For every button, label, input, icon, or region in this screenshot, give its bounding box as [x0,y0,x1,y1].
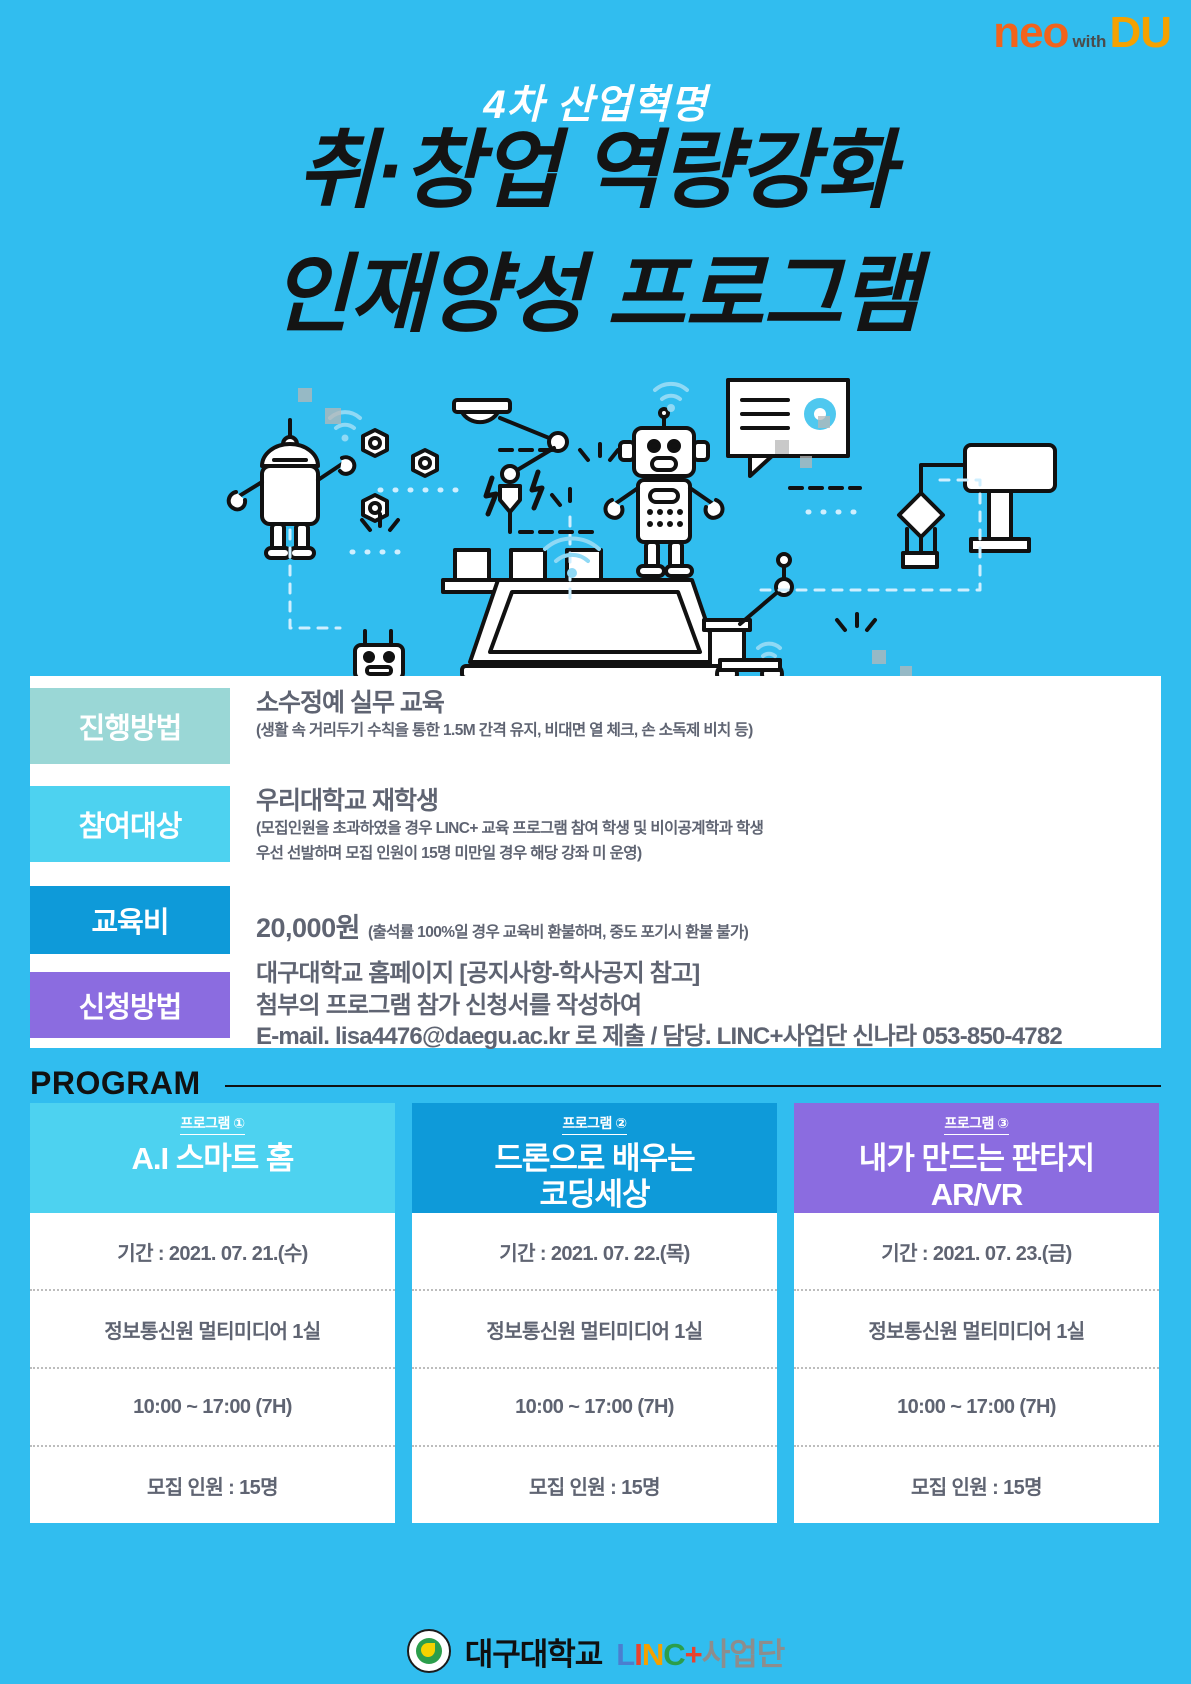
robotics-illustration [0,360,1191,680]
program-card-2-place: 정보통신원 멀티미디어 1실 [412,1289,777,1367]
fee-amount: 20,000원 [256,906,360,945]
linc-plus-sign: + [685,1637,702,1672]
program-card-3[interactable]: 프로그램 ③ 내가 만드는 판타지 AR/VR 기간 : 2021. 07. 2… [794,1103,1159,1523]
footer-logos: 대구대학교 LINC+사업단 [0,1618,1191,1684]
target-sub-text-2: 우선 선발하며 모집 인원이 15명 미만일 경우 해당 강좌 미 운영) [256,842,763,867]
program-card-1-header: 프로그램 ① A.I 스마트 홈 [30,1103,395,1213]
info-label-fee: 교육비 [30,886,230,954]
method-sub-text: (생활 속 거리두기 수칙을 통한 1.5M 간격 유지, 비대면 열 체크, … [256,719,753,744]
with-wordmark: with [1072,32,1106,52]
neo-with-du-logo: neo with DU [993,8,1171,58]
program-card-3-tag: 프로그램 ③ [944,1113,1008,1135]
program-card-3-body: 기간 : 2021. 07. 23.(금) 정보통신원 멀티미디어 1실 10:… [794,1213,1159,1523]
seal-emblem-icon [416,1638,442,1664]
program-card-2-header: 프로그램 ② 드론으로 배우는 코딩세상 [412,1103,777,1213]
info-row-target: 참여대상 우리대학교 재학생 (모집인원을 초과하였을 경우 LINC+ 교육 … [30,786,763,867]
program-heading-rule [225,1085,1161,1087]
program-card-3-header: 프로그램 ③ 내가 만드는 판타지 AR/VR [794,1103,1159,1213]
program-card-1-time: 10:00 ~ 17:00 (7H) [30,1367,395,1445]
info-row-apply: 신청방법 대구대학교 홈페이지 [공지사항-학사공지 참고] 첨부의 프로그램 … [30,972,1062,1053]
program-card-2-tag: 프로그램 ② [562,1113,626,1135]
program-card-1-tag: 프로그램 ① [180,1113,244,1135]
program-card-2-title-line1: 드론으로 배우는 [494,1141,694,1177]
poster-root: neo with DU 4차 산업혁명 취·창업 역량강화 인재양성 프로그램 [0,0,1191,1684]
info-body-target: 우리대학교 재학생 (모집인원을 초과하였을 경우 LINC+ 교육 프로그램 … [230,786,763,867]
title-line-1: 취·창업 역량강화 [0,128,1191,214]
info-body-method: 소수정예 실무 교육 (생활 속 거리두기 수칙을 통한 1.5M 간격 유지,… [230,688,753,764]
program-heading-text: PROGRAM [30,1065,201,1102]
info-row-fee: 교육비 20,000원 (출석률 100%일 경우 교육비 환불하며, 중도 포… [30,886,748,954]
program-card-1-title-line1: A.I 스마트 홈 [132,1141,294,1177]
program-card-2-time: 10:00 ~ 17:00 (7H) [412,1367,777,1445]
program-card-1-period: 기간 : 2021. 07. 21.(수) [30,1213,395,1289]
info-row-method: 진행방법 소수정예 실무 교육 (생활 속 거리두기 수칙을 통한 1.5M 간… [30,688,753,764]
program-card-1-place: 정보통신원 멀티미디어 1실 [30,1289,395,1367]
neo-wordmark: neo [993,8,1068,58]
program-card-1-capacity: 모집 인원 : 15명 [30,1445,395,1523]
program-card-2-title: 드론으로 배우는 코딩세상 [494,1141,694,1212]
title-eyebrow: 4차 산업혁명 [0,72,1191,130]
info-label-apply: 신청방법 [30,972,230,1038]
program-card-1[interactable]: 프로그램 ① A.I 스마트 홈 기간 : 2021. 07. 21.(수) 정… [30,1103,395,1523]
daegu-university-label: 대구대학교 [465,1629,603,1674]
program-section-header: PROGRAM [30,1060,1161,1106]
program-card-list: 프로그램 ① A.I 스마트 홈 기간 : 2021. 07. 21.(수) 정… [30,1103,1161,1523]
program-card-3-period: 기간 : 2021. 07. 23.(금) [794,1213,1159,1289]
program-card-3-time: 10:00 ~ 17:00 (7H) [794,1367,1159,1445]
apply-line-3-contact: E-mail. lisa4476@daegu.ac.kr 로 제출 / 담당. … [256,1021,1062,1053]
linc-suffix-label: 사업단 [702,1637,785,1672]
title-line-2: 인재양성 프로그램 [0,252,1191,338]
program-card-1-body: 기간 : 2021. 07. 21.(수) 정보통신원 멀티미디어 1실 10:… [30,1213,395,1523]
program-card-3-title: 내가 만드는 판타지 AR/VR [859,1141,1094,1212]
du-wordmark: DU [1109,8,1171,58]
info-panel: 진행방법 소수정예 실무 교육 (생활 속 거리두기 수칙을 통한 1.5M 간… [30,676,1161,1048]
target-sub-text-1: (모집인원을 초과하였을 경우 LINC+ 교육 프로그램 참여 학생 및 비이… [256,817,763,842]
info-label-target: 참여대상 [30,786,230,862]
program-card-1-title: A.I 스마트 홈 [132,1141,294,1177]
daegu-university-seal-icon [407,1629,451,1673]
program-card-2-title-line2: 코딩세상 [494,1177,694,1213]
linc-letter-l: L [616,1637,634,1672]
linc-letter-n: N [642,1637,663,1672]
linc-plus-label: LINC+사업단 [616,1629,784,1674]
method-main-text: 소수정예 실무 교육 [256,688,753,719]
info-label-method: 진행방법 [30,688,230,764]
fee-note: (출석률 100%일 경우 교육비 환불하며, 중도 포기시 환불 불가) [368,920,748,942]
program-card-3-capacity: 모집 인원 : 15명 [794,1445,1159,1523]
linc-letter-i: I [634,1637,642,1672]
program-card-2-body: 기간 : 2021. 07. 22.(목) 정보통신원 멀티미디어 1실 10:… [412,1213,777,1523]
apply-line-2: 첨부의 프로그램 참가 신청서를 작성하여 [256,990,1062,1022]
program-card-2-capacity: 모집 인원 : 15명 [412,1445,777,1523]
target-main-text: 우리대학교 재학생 [256,786,763,817]
program-card-3-title-line1: 내가 만드는 판타지 [859,1141,1094,1177]
program-card-3-place: 정보통신원 멀티미디어 1실 [794,1289,1159,1367]
linc-letter-c: C [663,1637,684,1672]
apply-line-1: 대구대학교 홈페이지 [공지사항-학사공지 참고] [256,958,1062,990]
info-body-apply: 대구대학교 홈페이지 [공지사항-학사공지 참고] 첨부의 프로그램 참가 신청… [230,958,1062,1053]
info-body-fee: 20,000원 (출석률 100%일 경우 교육비 환불하며, 중도 포기시 환… [230,886,748,954]
program-card-2-period: 기간 : 2021. 07. 22.(목) [412,1213,777,1289]
program-card-3-title-line2: AR/VR [859,1177,1094,1213]
program-card-2[interactable]: 프로그램 ② 드론으로 배우는 코딩세상 기간 : 2021. 07. 22.(… [412,1103,777,1523]
